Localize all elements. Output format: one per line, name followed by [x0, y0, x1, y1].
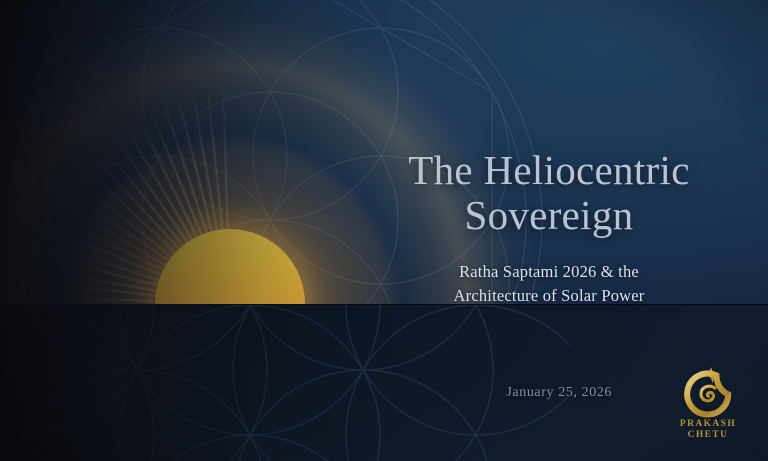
page-subtitle: Ratha Saptami 2026 & the Architecture of… [384, 260, 714, 308]
slide-date: January 25, 2026 [506, 385, 612, 401]
brand-logo[interactable]: PRAKASH CHETU [670, 366, 746, 441]
title-line-1: The Heliocentric [384, 148, 714, 193]
presentation-title-slide: The Heliocentric Sovereign Ratha Saptami… [0, 0, 768, 461]
brand-name: PRAKASH CHETU [670, 419, 746, 441]
ground-tint [0, 305, 768, 461]
subtitle-line-1: Ratha Saptami 2026 & the [384, 260, 714, 284]
flame-spiral-icon [679, 366, 737, 418]
subtitle-line-2: Architecture of Solar Power [384, 284, 714, 308]
ground-region [0, 304, 768, 461]
brand-name-line-1: PRAKASH [670, 419, 746, 430]
title-block: The Heliocentric Sovereign Ratha Saptami… [384, 148, 714, 308]
brand-name-line-2: CHETU [670, 430, 746, 441]
title-line-2: Sovereign [384, 193, 714, 238]
page-title: The Heliocentric Sovereign [384, 148, 714, 238]
